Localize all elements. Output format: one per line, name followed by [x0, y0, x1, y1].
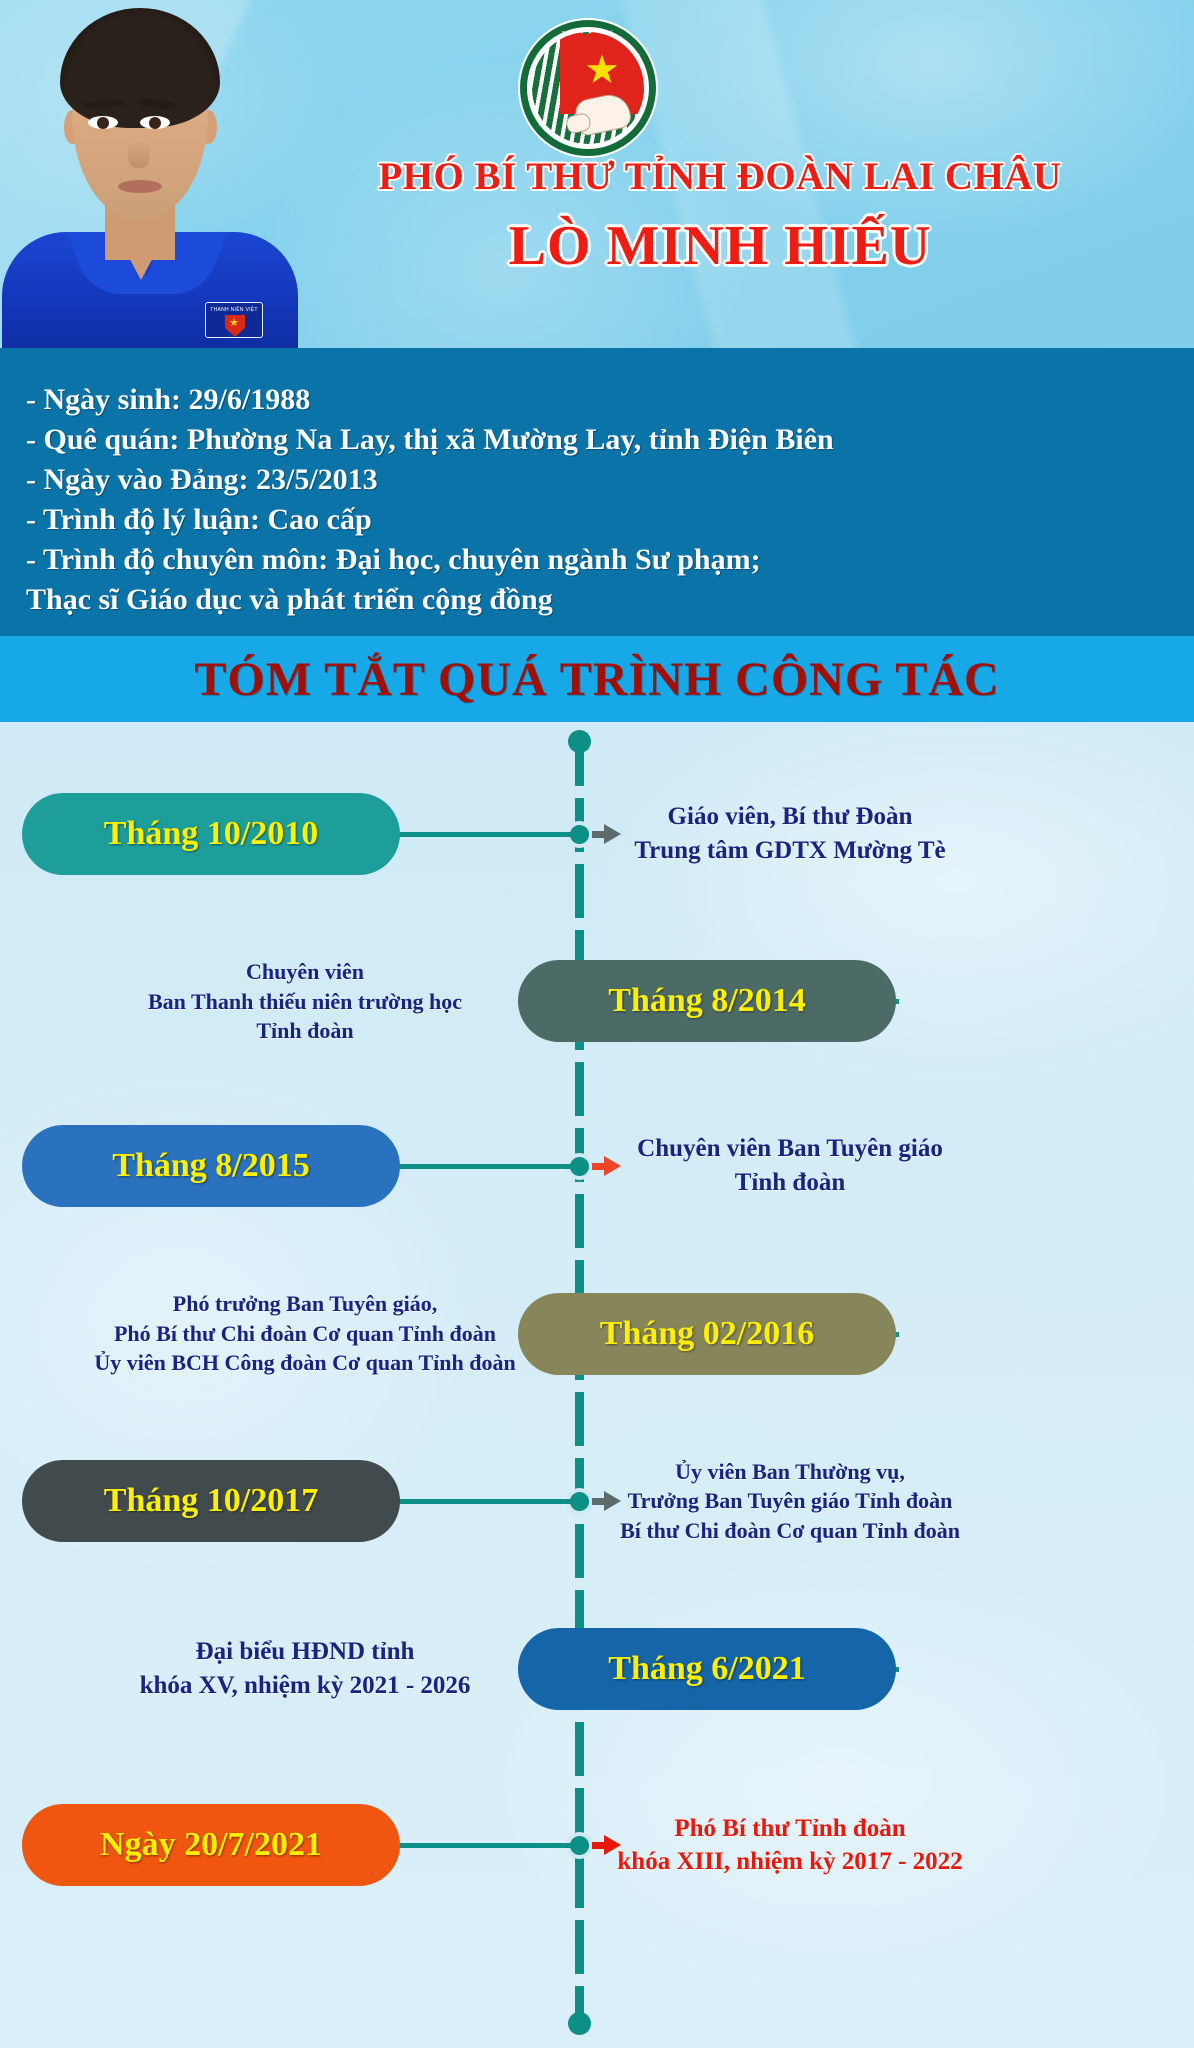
bio-line-education: - Trình độ chuyên môn: Đại học, chuyên n…	[26, 540, 1168, 580]
emblem-text-char: À	[538, 119, 546, 127]
emblem-text-char: S	[535, 53, 543, 61]
timeline-description-line: Tỉnh đoàn	[10, 1016, 600, 1045]
emblem-text-char: N	[527, 76, 535, 82]
emblem-text-char: H	[551, 36, 559, 45]
page-title-position: PHÓ BÍ THƯ TỈNH ĐOÀN LAI CHÂU	[260, 154, 1180, 199]
emblem-text-char: I	[633, 54, 640, 60]
timeline-description: Chuyên viên Ban Tuyên giáoTỉnh đoàn	[490, 1132, 1090, 1199]
timeline-description-line: Chuyên viên	[10, 957, 600, 986]
section-banner-title: TÓM TẮT QUÁ TRÌNH CÔNG TÁC	[194, 652, 999, 707]
emblem-text-char: O	[545, 127, 554, 136]
timeline-description-line: Trung tâm GDTX Mường Tè	[490, 834, 1090, 868]
bio-line-hometown: - Quê quán: Phường Na Lay, thị xã Mường …	[26, 420, 1168, 460]
timeline-description-line: Chuyên viên Ban Tuyên giáo	[490, 1132, 1090, 1166]
emblem-text-char: C	[530, 64, 538, 71]
uniform-badge: THANH NIÊN VIỆT NAM ★	[205, 302, 263, 338]
timeline-description: Phó Bí thư Tỉnh đoànkhóa XIII, nhiệm kỳ …	[490, 1812, 1090, 1879]
timeline-description: Giáo viên, Bí thư ĐoànTrung tâm GDTX Mườ…	[490, 800, 1090, 867]
bio-line-theory-level: - Trình độ lý luận: Cao cấp	[26, 500, 1168, 540]
timeline-description: Phó trưởng Ban Tuyên giáo,Phó Bí thư Chi…	[10, 1289, 600, 1377]
timeline-description-line: Đại biểu HĐND tỉnh	[10, 1635, 600, 1669]
timeline-description-line: Phó Bí thư Chi đoàn Cơ quan Tỉnh đoàn	[10, 1319, 600, 1348]
timeline-description-line: Ủy viên Ban Thường vụ,	[490, 1457, 1090, 1486]
timeline-description-line: Phó Bí thư Tỉnh đoàn	[490, 1812, 1090, 1846]
timeline-date-pill[interactable]: Ngày 20/7/2021	[22, 1804, 400, 1886]
timeline-description: Ủy viên Ban Thường vụ,Trưởng Ban Tuyên g…	[490, 1457, 1090, 1545]
mouth	[118, 180, 162, 193]
star-icon: ★	[229, 318, 239, 329]
career-timeline: Tháng 10/2010Giáo viên, Bí thư ĐoànTrung…	[0, 722, 1194, 2048]
header-banner: THANH NIÊN VIỆT NAM ★ ★ ĐOÀN TNCS HỒ CHÍ…	[0, 0, 1194, 348]
emblem-text-char: Í	[608, 31, 613, 38]
emblem-text-char: T	[526, 88, 533, 92]
emblem-text-char: C	[585, 26, 590, 33]
emblem-text-char: M	[625, 43, 634, 52]
portrait-photo: THANH NIÊN VIỆT NAM ★	[0, 0, 300, 348]
hair	[60, 8, 220, 128]
emblem-text-char: N	[531, 109, 539, 116]
emblem-text-char: N	[638, 63, 646, 70]
timeline-date-pill[interactable]: Tháng 10/2017	[22, 1460, 400, 1542]
bio-line-education-cont: Thạc sĩ Giáo dục và phát triển cộng đồng	[26, 580, 1168, 620]
emblem-text-char: H	[641, 75, 649, 81]
timeline-date-pill[interactable]: Tháng 10/2010	[22, 793, 400, 875]
timeline-description-line: Trưởng Ban Tuyên giáo Tỉnh đoàn	[490, 1486, 1090, 1515]
timeline-description-line: Ban Thanh thiếu niên trường học	[10, 987, 600, 1016]
timeline-description-line: Bí thư Chi đoàn Cơ quan Tỉnh đoàn	[490, 1516, 1090, 1545]
section-banner: TÓM TẮT QUÁ TRÌNH CÔNG TÁC	[0, 636, 1194, 722]
emblem-circular-text: ĐOÀN TNCS HỒ CHÍ MINH	[518, 18, 658, 158]
emblem-text-char: Ồ	[561, 31, 569, 40]
timeline-description: Đại biểu HĐND tỉnhkhóa XV, nhiệm kỳ 2021…	[10, 1635, 600, 1702]
nose	[128, 140, 150, 168]
timeline-description-line: Phó trưởng Ban Tuyên giáo,	[10, 1289, 600, 1318]
timeline-description-line: Ủy viên BCH Công đoàn Cơ quan Tỉnh đoàn	[10, 1348, 600, 1377]
eye-right	[140, 116, 170, 129]
timeline-description-line: Giáo viên, Bí thư Đoàn	[490, 800, 1090, 834]
timeline-start-dot	[568, 730, 591, 753]
emblem-text-char: Đ	[555, 134, 563, 143]
page-title-name: LÒ MINH HIẾU	[260, 214, 1180, 278]
bio-line-birth: - Ngày sinh: 29/6/1988	[26, 380, 1168, 420]
youth-union-emblem-icon: ★ ĐOÀN TNCS HỒ CHÍ MINH	[518, 18, 658, 158]
biography-panel: - Ngày sinh: 29/6/1988 - Quê quán: Phườn…	[0, 348, 1194, 636]
bio-line-party-join: - Ngày vào Đảng: 23/5/2013	[26, 460, 1168, 500]
timeline-description: Chuyên viênBan Thanh thiếu niên trường h…	[10, 957, 600, 1045]
timeline-end-dot	[568, 2012, 591, 2035]
timeline-description-line: khóa XV, nhiệm kỳ 2021 - 2026	[10, 1669, 600, 1703]
emblem-text-char: H	[596, 27, 602, 35]
timeline-description-line: khóa XIII, nhiệm kỳ 2017 - 2022	[490, 1845, 1090, 1879]
eye-left	[88, 116, 118, 129]
timeline-description-line: Tỉnh đoàn	[490, 1166, 1090, 1200]
timeline-date-pill[interactable]: Tháng 8/2015	[22, 1125, 400, 1207]
